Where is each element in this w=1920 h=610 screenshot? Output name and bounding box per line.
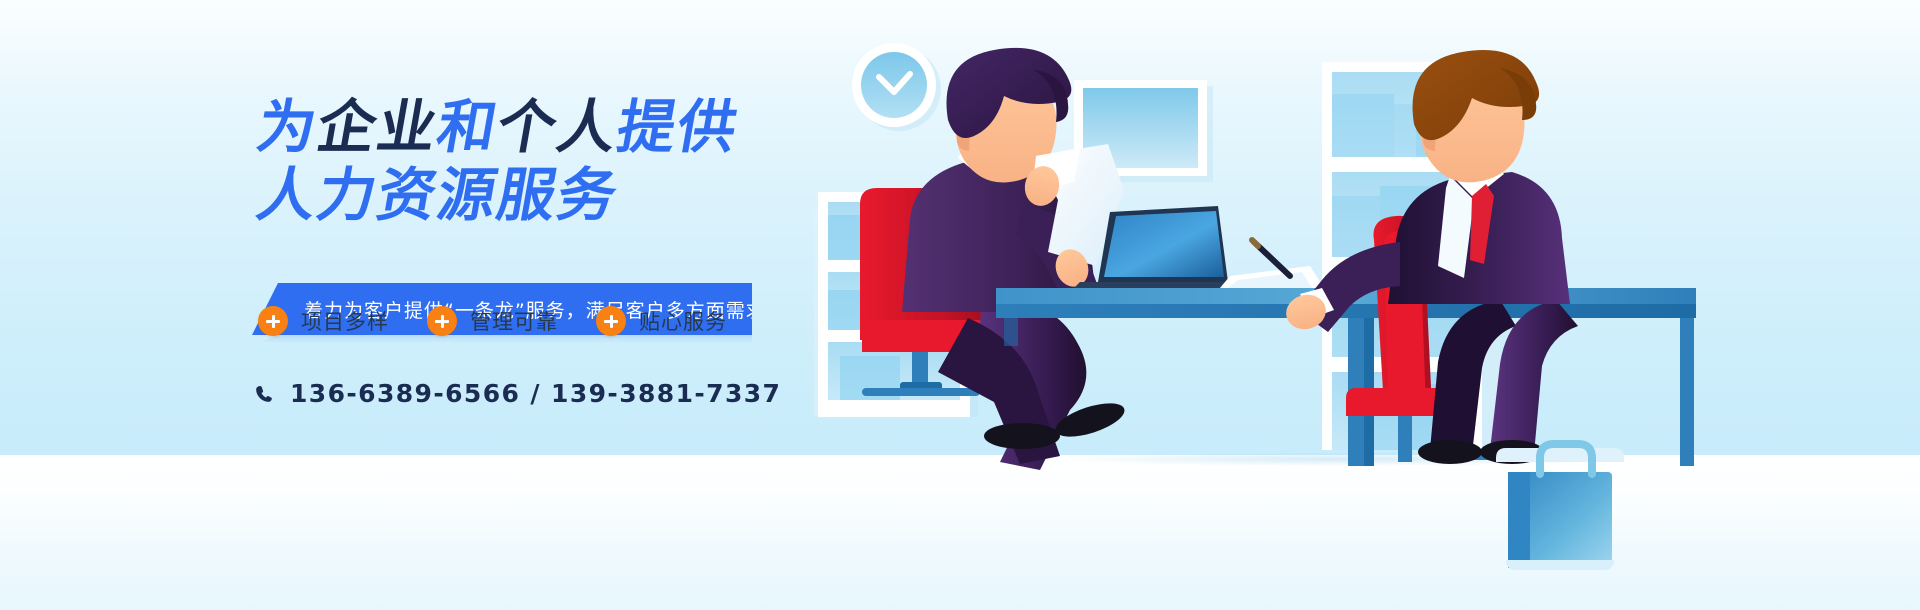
headline-line-1: 为企业和个人提供 — [253, 96, 824, 158]
feature-item-1[interactable]: 项目多样 — [258, 306, 389, 336]
feature-label-1: 项目多样 — [301, 306, 389, 336]
headline-seg-4: 个人 — [493, 96, 624, 158]
headline-seg-5: 提供 — [613, 96, 744, 158]
feature-label-2: 管理可靠 — [470, 306, 558, 336]
papers-on-desk — [1220, 266, 1324, 288]
subtitle-ribbon-shadow — [258, 335, 752, 343]
plus-icon — [427, 306, 457, 336]
headline-seg-1: 为 — [253, 96, 324, 158]
headline-seg-3: 和 — [433, 96, 504, 158]
contact-phone[interactable]: 136-6389-6566 / 139-3881-7337 — [254, 379, 781, 408]
feature-item-2[interactable]: 管理可靠 — [427, 306, 558, 336]
feature-list: 项目多样 管理可靠 贴心服务 — [258, 306, 727, 336]
headline-seg-2: 企业 — [313, 96, 444, 158]
phone-number: 136-6389-6566 / 139-3881-7337 — [290, 379, 781, 408]
headline: 为企业和个人提供 人力资源服务 — [258, 96, 818, 226]
feature-item-3[interactable]: 贴心服务 — [596, 306, 727, 336]
feature-label-3: 贴心服务 — [639, 306, 727, 336]
plus-icon — [258, 306, 288, 336]
hero-banner: 为企业和个人提供 人力资源服务 着力为客户提供“一条龙”服务，满足客户多方面需求… — [0, 0, 1920, 610]
phone-icon — [254, 383, 274, 405]
plus-icon — [596, 306, 626, 336]
banner-text-column: 为企业和个人提供 人力资源服务 着力为客户提供“一条龙”服务，满足客户多方面需求… — [0, 0, 840, 610]
wall-clock — [852, 43, 941, 131]
headline-line-2: 人力资源服务 — [253, 164, 824, 226]
office-illustration — [800, 0, 1920, 610]
